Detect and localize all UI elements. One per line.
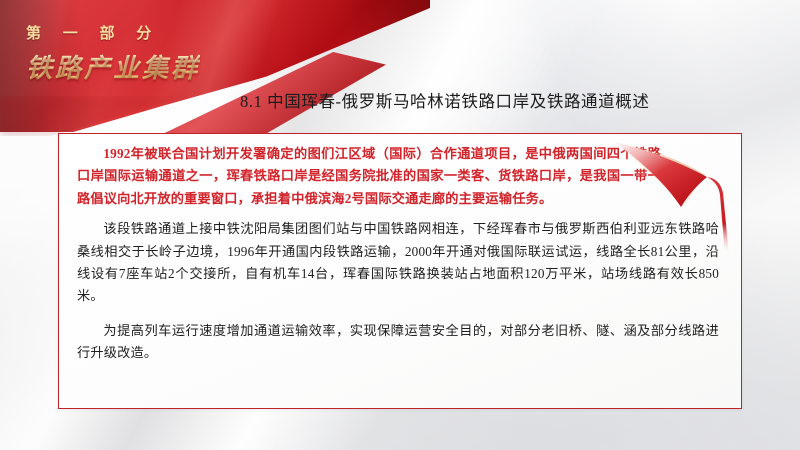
slide-canvas: 第 一 部 分 铁路产业集群 8.1 中国珲春-俄罗斯马哈林诺铁路口岸及铁路通道… [0,0,800,450]
content-card: 1992年被联合国计划开发署确定的图们江区域（国际）合作通道项目，是中俄两国间四… [58,133,742,409]
content-card-body: 1992年被联合国计划开发署确定的图们江区域（国际）合作通道项目，是中俄两国间四… [59,134,741,408]
header-text-group: 第 一 部 分 铁路产业集群 [26,22,200,85]
paragraph-highlight: 1992年被联合国计划开发署确定的图们江区域（国际）合作通道项目，是中俄两国间四… [77,143,719,210]
paragraph-detail: 该段铁路通道上接中铁沈阳局集团图们站与中国铁路网相连，下经珲春市与俄罗斯西伯利亚… [77,218,719,308]
part-label: 第 一 部 分 [26,22,200,43]
part-title: 铁路产业集群 [26,48,200,85]
paragraph-upgrade: 为提高列车运行速度增加通道运输效率，实现保障运营安全目的，对部分老旧桥、隧、涵及… [77,320,719,365]
section-heading: 8.1 中国珲春-俄罗斯马哈林诺铁路口岸及铁路通道概述 [240,88,649,112]
